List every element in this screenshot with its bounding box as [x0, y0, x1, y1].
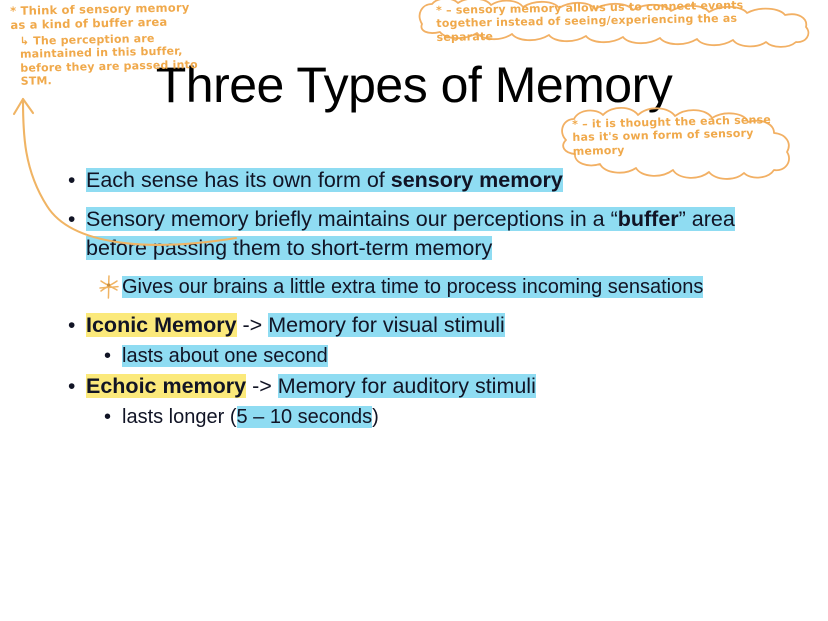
list-item: • Each sense has its own form of sensory…: [60, 166, 790, 195]
annotation-top-left-line1: * Think of sensory memory as a kind of b…: [10, 0, 190, 32]
list-item: •Iconic Memory -> Memory for visual stim…: [60, 311, 790, 340]
bullet-4-term: Iconic Memory: [86, 313, 237, 337]
list-item: •lasts about one second: [60, 342, 790, 370]
page-title: Three Types of Memory: [0, 58, 828, 113]
bullet-6-term: Echoic memory: [86, 374, 246, 398]
bullet-3-text: Gives our brains a little extra time to …: [122, 276, 703, 298]
bullet-dot-icon: •: [104, 403, 111, 431]
handwritten-asterisk-icon: [98, 274, 120, 300]
bullet-5-text: lasts about one second: [122, 345, 328, 367]
cloud-bubble-top-right: [414, 0, 818, 50]
bullet-1-text-lead: Each sense has its own form of: [86, 168, 391, 192]
list-item: •Echoic memory -> Memory for auditory st…: [60, 372, 790, 401]
bullet-dot-icon: •: [68, 311, 75, 340]
bullet-6-arrow: ->: [246, 374, 278, 398]
bullet-dot-icon: •: [68, 166, 75, 195]
list-item: •lasts longer (5 – 10 seconds): [60, 403, 790, 431]
bullet-2-text-bold: buffer: [618, 207, 679, 231]
bullet-7-text-highlight: 5 – 10 seconds: [237, 406, 373, 428]
annotation-top-right: * – sensory memory allows us to connect …: [436, 0, 787, 44]
slide-canvas: Three Types of Memory • Each sense has i…: [0, 0, 828, 621]
bullet-7-text-lead: lasts longer (: [122, 406, 237, 428]
bullet-1-text-bold: sensory memory: [391, 168, 563, 192]
bullet-4-definition: Memory for visual stimuli: [268, 313, 505, 337]
bullet-6-definition: Memory for auditory stimuli: [278, 374, 536, 398]
bullet-4-arrow: ->: [237, 313, 269, 337]
bullet-dot-icon: •: [104, 342, 111, 370]
bullet-dot-icon: •: [68, 372, 75, 401]
bullet-7-text-tail: ): [372, 406, 379, 428]
list-item: • Sensory memory briefly maintains our p…: [60, 205, 790, 263]
bullet-2-text-lead: Sensory memory briefly maintains our per…: [86, 207, 618, 231]
bullet-dot-icon: •: [68, 205, 75, 234]
slide-body: • Each sense has its own form of sensory…: [60, 166, 790, 437]
annotation-middle-right: * – it is thought the each sense has it'…: [572, 113, 791, 159]
list-item: Gives our brains a little extra time to …: [60, 273, 790, 301]
